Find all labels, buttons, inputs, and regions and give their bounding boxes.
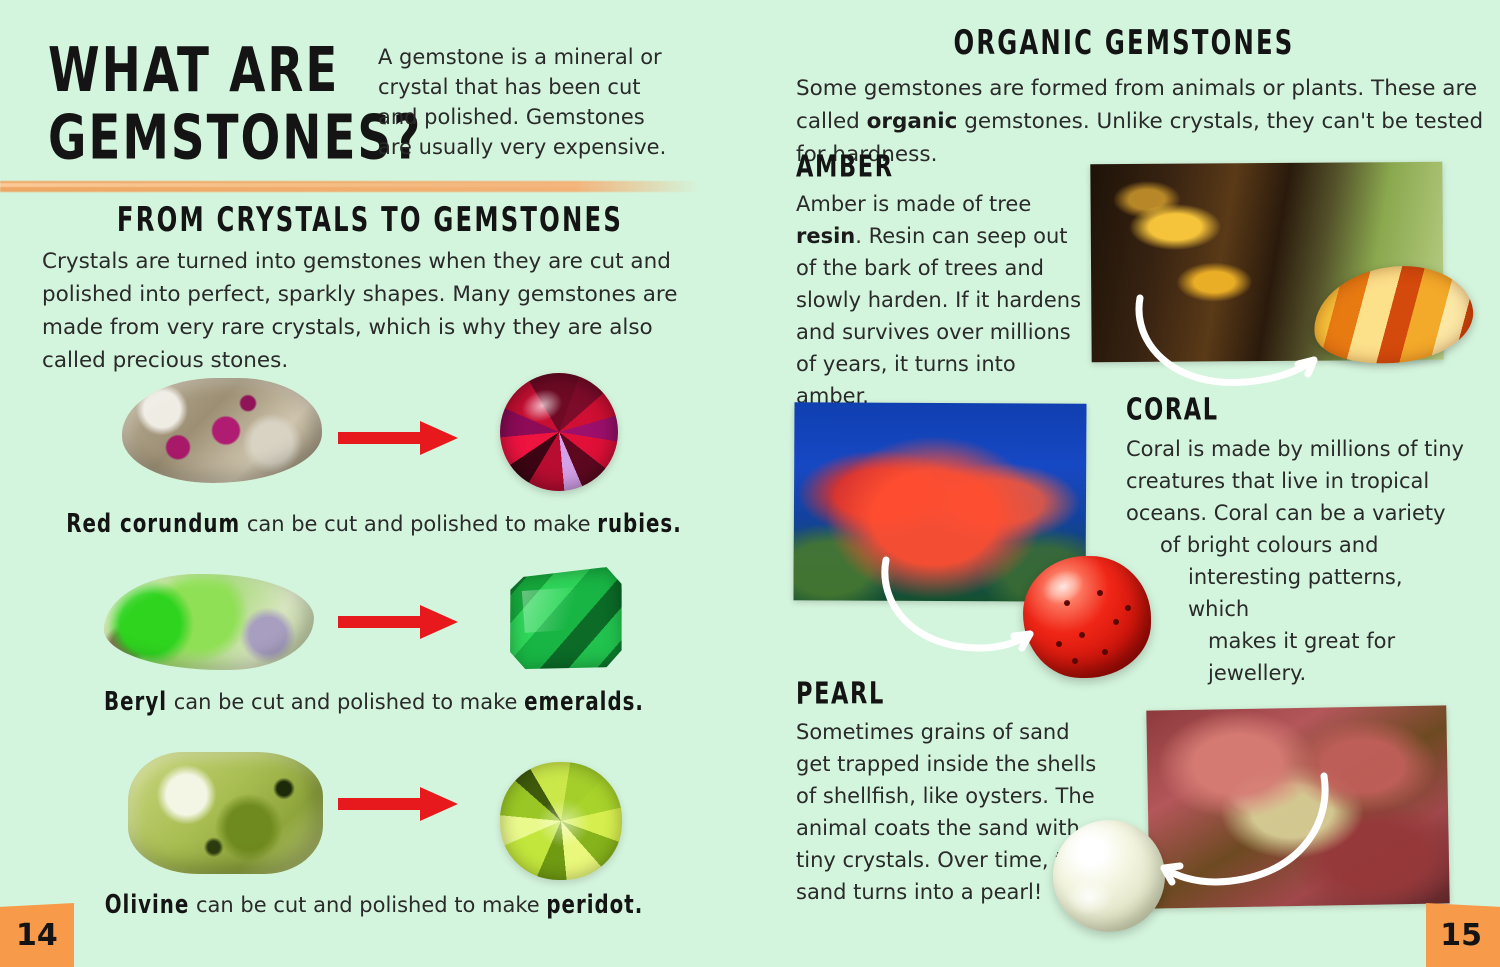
caption-ruby-middle: can be cut and polished to make (240, 512, 597, 536)
emerald-gem (505, 566, 628, 674)
book-spread: WHAT ARE GEMSTONES? A gemstone is a mine… (0, 0, 1500, 967)
right-page: ORGANIC GEMSTONES Some gemstones are for… (748, 0, 1500, 967)
gem-row-peridot (0, 742, 748, 892)
caption-peridot-end: peridot. (546, 891, 643, 921)
amber-heading: AMBER (796, 155, 894, 184)
organic-intro-paragraph: Some gemstones are formed from animals o… (796, 72, 1486, 171)
page-number-right: 15 (1440, 918, 1482, 953)
caption-ruby: Red corundum can be cut and polished to … (0, 512, 748, 537)
arrow-right-icon (338, 418, 458, 458)
coral-line-6: makes it great for jewellery. (1126, 625, 1466, 689)
amber-text-part1: Amber is made of tree (796, 192, 1031, 216)
olivine-rock (128, 752, 323, 874)
caption-peridot-middle: can be cut and polished to make (189, 893, 546, 917)
amber-paragraph: Amber is made of tree resin. Resin can s… (796, 188, 1084, 412)
organic-gemstones-heading: ORGANIC GEMSTONES (748, 28, 1500, 59)
caption-peridot-lead: Olivine (105, 891, 190, 921)
intro-paragraph: A gemstone is a mineral or crystal that … (378, 42, 678, 162)
pearl-heading-text: PEARL (796, 676, 885, 711)
caption-ruby-lead: Red corundum (66, 510, 240, 540)
polished-pearl-inset (1053, 820, 1165, 932)
coral-line-3: oceans. Coral can be a variety (1126, 501, 1446, 525)
beryl-rock (104, 574, 314, 670)
orange-divider (0, 181, 700, 192)
coral-heading-text: CORAL (1126, 392, 1219, 427)
coral-line-1: Coral is made by millions of tiny (1126, 437, 1464, 461)
pearl-photo-image (1146, 705, 1449, 908)
peridot-gem (500, 762, 622, 880)
caption-emerald-end: emeralds. (524, 688, 644, 718)
amber-text-part2: . Resin can seep out of the bark of tree… (796, 224, 1081, 408)
coral-line-5: interesting patterns, which (1126, 561, 1466, 625)
coral-paragraph: Coral is made by millions of tiny creatu… (1126, 433, 1466, 689)
section-heading-text: FROM CRYSTALS TO GEMSTONES (117, 201, 623, 240)
amber-text-bold: resin (796, 224, 855, 248)
arrow-right-icon (338, 602, 458, 642)
gem-row-ruby (0, 370, 748, 520)
amber-heading-text: AMBER (796, 149, 894, 184)
page-number-left: 14 (16, 918, 58, 953)
red-corundum-rock (122, 378, 322, 483)
organic-heading-text: ORGANIC GEMSTONES (954, 24, 1295, 63)
organic-intro-bold: organic (867, 109, 958, 134)
coral-line-4: of bright colours and (1126, 529, 1466, 561)
crystals-paragraph: Crystals are turned into gemstones when … (42, 245, 714, 377)
section-heading-crystals: FROM CRYSTALS TO GEMSTONES (0, 205, 740, 236)
coral-heading: CORAL (1126, 398, 1219, 427)
ruby-gem (500, 373, 618, 491)
caption-emerald: Beryl can be cut and polished to make em… (0, 690, 748, 715)
arrow-right-icon (338, 784, 458, 824)
caption-emerald-middle: can be cut and polished to make (167, 690, 524, 714)
caption-emerald-lead: Beryl (104, 688, 167, 718)
caption-peridot: Olivine can be cut and polished to make … (0, 893, 748, 918)
polished-coral-bead-inset (1023, 556, 1151, 678)
caption-ruby-end: rubies. (597, 510, 682, 540)
gem-row-emerald (0, 560, 748, 690)
oyster-with-pearl-photo (1146, 705, 1449, 908)
coral-line-2: creatures that live in tropical (1126, 469, 1429, 493)
left-page: WHAT ARE GEMSTONES? A gemstone is a mine… (0, 0, 748, 967)
pearl-heading: PEARL (796, 682, 885, 711)
page-title: WHAT ARE GEMSTONES? (48, 38, 378, 173)
